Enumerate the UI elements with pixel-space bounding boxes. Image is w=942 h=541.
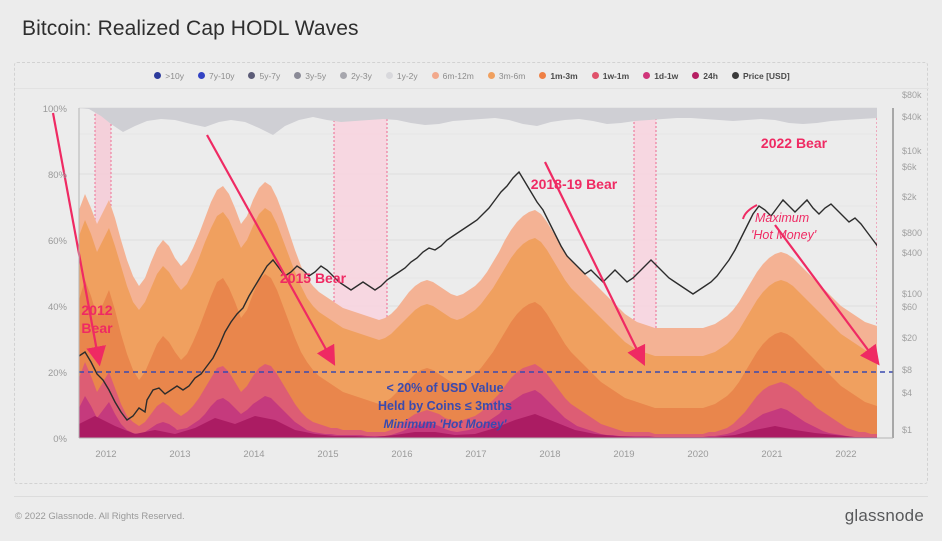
legend-swatch-icon	[488, 72, 495, 79]
legend-label: 5y-7y	[259, 71, 280, 81]
footer-divider	[14, 496, 928, 497]
x-tick-2016: 2016	[391, 449, 412, 460]
x-tick-2017: 2017	[465, 449, 486, 460]
y-tick-80: 80%	[48, 170, 68, 181]
x-tick-2021: 2021	[761, 449, 782, 460]
annotation-2012-bear-line2: Bear	[81, 320, 113, 336]
legend-swatch-icon	[732, 72, 739, 79]
annotation-min-hot-money-line3: Minimum 'Hot Money'	[383, 417, 507, 431]
y-axis-right-labels: $1 $4 $8 $20 $60 $100 $400 $800 $2k $6k …	[902, 90, 922, 435]
price-tick-4: $4	[902, 388, 912, 398]
x-tick-2018: 2018	[539, 449, 560, 460]
legend-label: 1w-1m	[603, 71, 629, 81]
copyright-text: © 2022 Glassnode. All Rights Reserved.	[15, 511, 185, 522]
x-tick-2015: 2015	[317, 449, 338, 460]
annotation-2012-bear-line1: 2012	[81, 302, 112, 318]
y-axis-left-labels: 0% 20% 40% 60% 80% 100%	[43, 104, 68, 445]
legend-item-10y[interactable]: >10y	[154, 71, 184, 81]
legend-label: 3m-6m	[499, 71, 525, 81]
annotation-max-hot-money-line2: 'Hot Money'	[751, 228, 817, 242]
chart-legend: >10y7y-10y5y-7y3y-5y2y-3y1y-2y6m-12m3m-6…	[15, 63, 929, 89]
annotation-max-hot-money-line1: Maximum	[755, 211, 809, 225]
legend-item-5y-7y[interactable]: 5y-7y	[248, 71, 280, 81]
legend-label: 1d-1w	[654, 71, 678, 81]
legend-label: Price [USD]	[743, 71, 790, 81]
y-tick-0: 0%	[53, 434, 67, 445]
annotation-min-hot-money-line2: Held by Coins ≤ 3mths	[378, 399, 512, 413]
y-tick-60: 60%	[48, 236, 68, 247]
glassnode-logo: glassnode	[845, 506, 924, 526]
legend-label: 6m-12m	[443, 71, 474, 81]
legend-swatch-icon	[643, 72, 650, 79]
annotation-min-hot-money-line1: < 20% of USD Value	[386, 381, 503, 395]
legend-swatch-icon	[248, 72, 255, 79]
legend-label: >10y	[165, 71, 184, 81]
x-tick-2019: 2019	[613, 449, 634, 460]
price-tick-800: $800	[902, 228, 922, 238]
x-tick-2014: 2014	[243, 449, 264, 460]
legend-item-6m-12m[interactable]: 6m-12m	[432, 71, 474, 81]
annotation-2015-bear: 2015 Bear	[280, 270, 347, 286]
price-tick-10k: $10k	[902, 146, 922, 156]
price-tick-40k: $40k	[902, 112, 922, 122]
legend-item-price-usd[interactable]: Price [USD]	[732, 71, 790, 81]
legend-swatch-icon	[592, 72, 599, 79]
legend-item-1d-1w[interactable]: 1d-1w	[643, 71, 678, 81]
legend-swatch-icon	[539, 72, 546, 79]
legend-label: 3y-5y	[305, 71, 326, 81]
x-tick-2020: 2020	[687, 449, 708, 460]
legend-item-1w-1m[interactable]: 1w-1m	[592, 71, 629, 81]
legend-item-7y-10y[interactable]: 7y-10y	[198, 71, 235, 81]
y-tick-40: 40%	[48, 302, 68, 313]
price-tick-20: $20	[902, 333, 917, 343]
legend-item-3m-6m[interactable]: 3m-6m	[488, 71, 525, 81]
legend-swatch-icon	[294, 72, 301, 79]
annotation-2022-bear: 2022 Bear	[761, 135, 828, 151]
legend-label: 2y-3y	[351, 71, 372, 81]
legend-swatch-icon	[386, 72, 393, 79]
annotation-2018-19-bear: 2018-19 Bear	[531, 176, 618, 192]
y-tick-20: 20%	[48, 368, 68, 379]
price-tick-100: $100	[902, 289, 922, 299]
legend-item-2y-3y[interactable]: 2y-3y	[340, 71, 372, 81]
x-tick-2013: 2013	[169, 449, 190, 460]
legend-swatch-icon	[198, 72, 205, 79]
legend-item-24h[interactable]: 24h	[692, 71, 718, 81]
y-tick-100: 100%	[43, 104, 68, 115]
band-2022-bear	[877, 108, 893, 438]
plot-area: glassnode	[15, 90, 929, 484]
price-tick-8: $8	[902, 365, 912, 375]
legend-label: 24h	[703, 71, 718, 81]
hodl-waves-svg: glassnode	[15, 90, 929, 484]
legend-label: 7y-10y	[209, 71, 235, 81]
chart-card: >10y7y-10y5y-7y3y-5y2y-3y1y-2y6m-12m3m-6…	[14, 62, 928, 484]
legend-swatch-icon	[432, 72, 439, 79]
x-tick-2012: 2012	[95, 449, 116, 460]
x-tick-2022: 2022	[835, 449, 856, 460]
legend-swatch-icon	[154, 72, 161, 79]
chart-page: Bitcoin: Realized Cap HODL Waves >10y7y-…	[0, 0, 942, 541]
legend-item-1y-2y[interactable]: 1y-2y	[386, 71, 418, 81]
price-tick-6k: $6k	[902, 162, 917, 172]
x-axis-labels: 2012 2013 2014 2015 2016 2017 2018 2019 …	[95, 449, 856, 460]
legend-item-1m-3m[interactable]: 1m-3m	[539, 71, 577, 81]
price-tick-80k: $80k	[902, 90, 922, 100]
legend-item-3y-5y[interactable]: 3y-5y	[294, 71, 326, 81]
price-tick-1: $1	[902, 425, 912, 435]
legend-swatch-icon	[692, 72, 699, 79]
page-title: Bitcoin: Realized Cap HODL Waves	[22, 17, 359, 41]
legend-label: 1y-2y	[397, 71, 418, 81]
price-tick-2k: $2k	[902, 192, 917, 202]
price-tick-60: $60	[902, 302, 917, 312]
legend-swatch-icon	[340, 72, 347, 79]
price-tick-400: $400	[902, 248, 922, 258]
legend-label: 1m-3m	[550, 71, 577, 81]
